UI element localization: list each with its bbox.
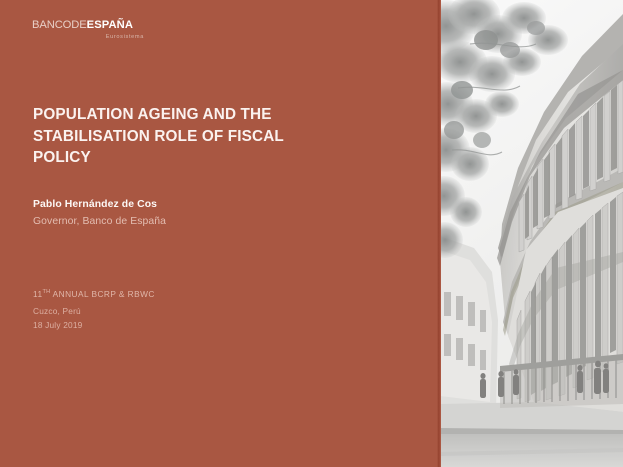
- title-line-2: STABILISATION ROLE OF FISCAL: [33, 126, 333, 148]
- title-slide: BANCODEESPAÑA Eurosistema POPULATION AGE…: [0, 0, 623, 467]
- author-role: Governor, Banco de España: [33, 215, 333, 229]
- author-block: Pablo Hernández de Cos Governor, Banco d…: [33, 197, 333, 229]
- building-photograph: [440, 0, 623, 467]
- logo-subtitle-eurosistema: Eurosistema: [32, 34, 144, 41]
- event-date: 18 July 2019: [33, 320, 333, 331]
- event-name: 11TH ANNUAL BCRP & RBWC: [33, 287, 333, 300]
- author-name: Pablo Hernández de Cos: [33, 197, 333, 212]
- page-title: POPULATION AGEING AND THE STABILISATION …: [33, 104, 333, 169]
- event-location: Cuzco, Perú: [33, 306, 333, 317]
- title-line-1: POPULATION AGEING AND THE: [33, 104, 333, 126]
- event-details: 11TH ANNUAL BCRP & RBWC Cuzco, Perú 18 J…: [33, 287, 333, 331]
- title-line-3: POLICY: [33, 147, 333, 169]
- event-ordinal-number: 11: [33, 289, 43, 299]
- panel-photo-divider: [437, 0, 441, 467]
- banco-de-espana-logo[interactable]: BANCODEESPAÑA Eurosistema: [32, 19, 144, 41]
- building-photograph-artwork: [440, 0, 623, 467]
- event-name-rest: ANNUAL BCRP & RBWC: [50, 289, 154, 299]
- logo-word-espana: ESPAÑA: [87, 19, 133, 31]
- logo-word-banco-de: BANCODE: [32, 19, 87, 31]
- logo-wordmark: BANCODEESPAÑA: [32, 19, 144, 32]
- title-panel: [0, 0, 441, 467]
